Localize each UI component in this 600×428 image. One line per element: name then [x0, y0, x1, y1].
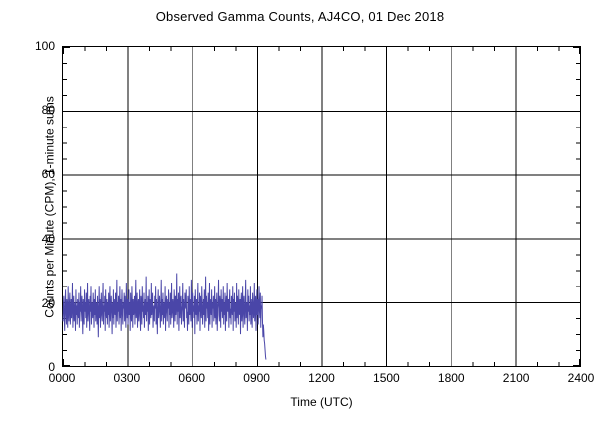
- y-axis-label: Counts per Minute (CPM), 1-minute sums: [43, 47, 57, 368]
- x-tick-label: 2400: [568, 371, 595, 385]
- x-tick-label: 1500: [373, 371, 400, 385]
- x-tick-label: 0900: [243, 371, 270, 385]
- gamma-counts-chart-figure: Observed Gamma Counts, AJ4CO, 01 Dec 201…: [0, 0, 600, 428]
- x-tick-label: 0600: [178, 371, 205, 385]
- x-tick-label: 0000: [49, 371, 76, 385]
- x-tick-label: 2100: [503, 371, 530, 385]
- x-tick-label: 1800: [438, 371, 465, 385]
- x-axis-tick-labels: 000003000600090012001500180021002400: [0, 0, 600, 428]
- x-tick-label: 0300: [114, 371, 141, 385]
- x-tick-label: 1200: [308, 371, 335, 385]
- x-axis-label: Time (UTC): [62, 395, 581, 409]
